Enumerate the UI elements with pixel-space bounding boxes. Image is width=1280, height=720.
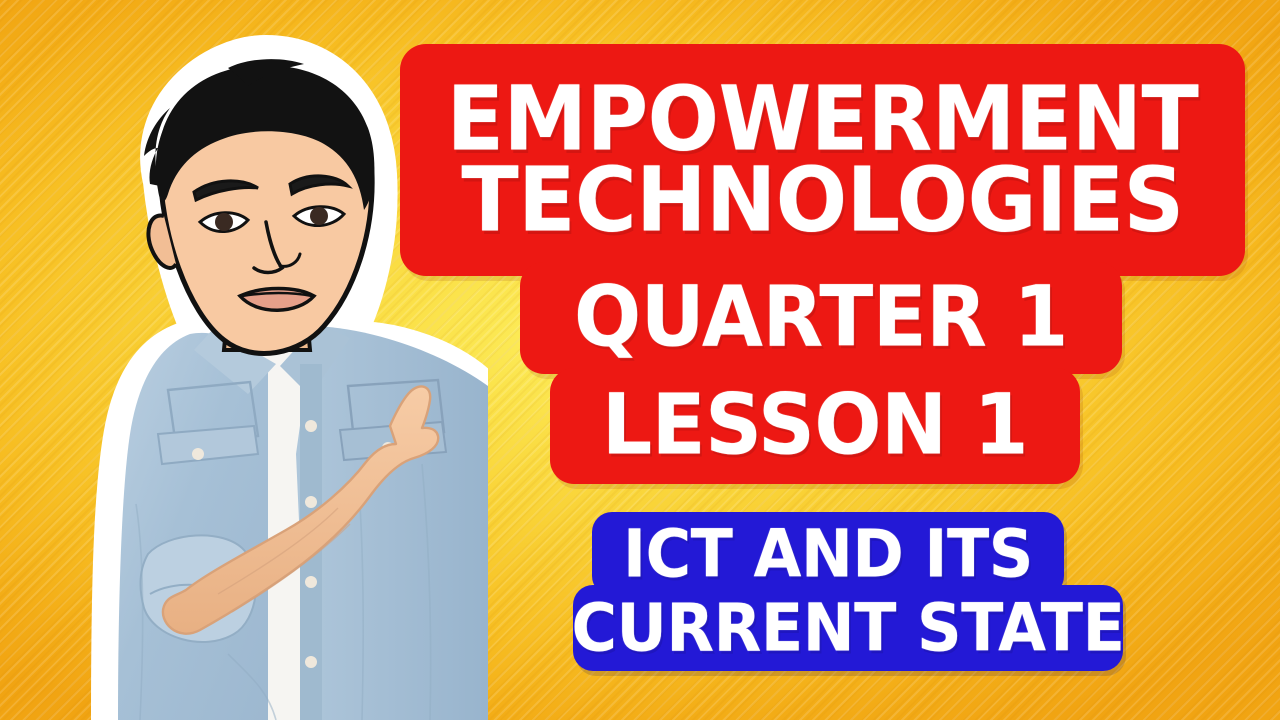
thumbnail-canvas: EMPOWERMENT TECHNOLOGIES QUARTER 1 LESSO…	[0, 0, 1280, 720]
title-banner-lesson[interactable]: LESSON 1	[550, 368, 1080, 484]
subtitle-banner-line-1[interactable]: ICT AND ITS	[592, 512, 1064, 596]
title-banner-primary[interactable]: EMPOWERMENT TECHNOLOGIES	[400, 44, 1245, 276]
subtitle-banner-line-2[interactable]: CURRENT STATE	[573, 585, 1123, 671]
title-banner-quarter[interactable]: QUARTER 1	[520, 262, 1122, 374]
title-line-2: TECHNOLOGIES	[461, 158, 1183, 243]
subtitle-line-2: CURRENT STATE	[572, 596, 1125, 659]
title-line-4: LESSON 1	[602, 386, 1028, 466]
title-line-3: QUARTER 1	[574, 278, 1068, 358]
subtitle-line-1: ICT AND ITS	[623, 522, 1033, 585]
